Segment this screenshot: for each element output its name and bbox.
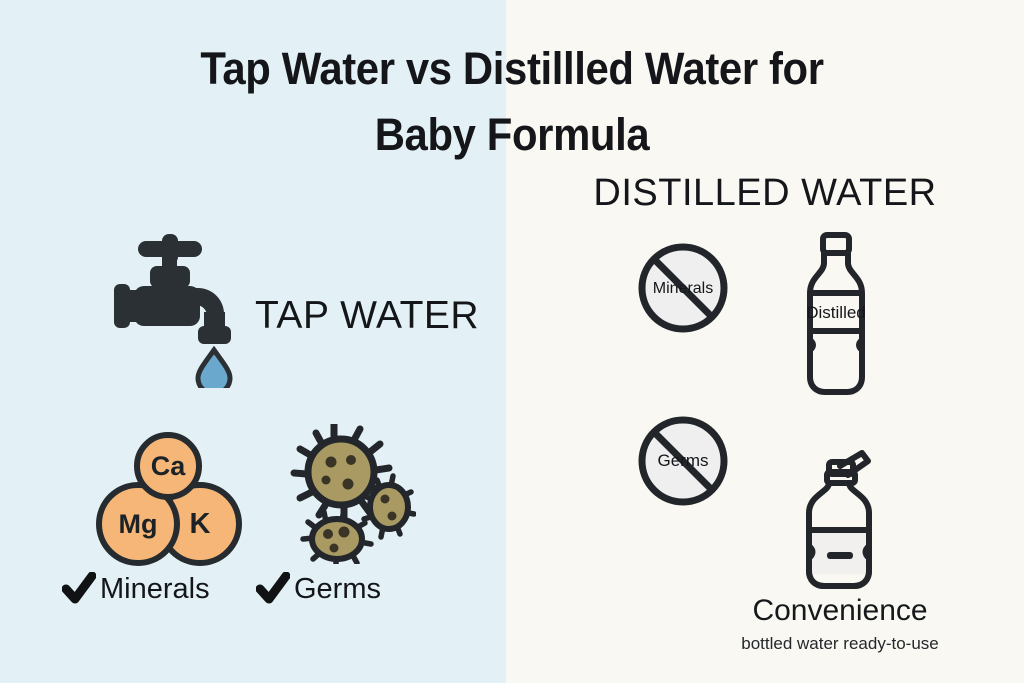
no-minerals-icon: Minerals <box>635 240 731 336</box>
right-panel-background <box>506 0 1024 683</box>
mineral-circle-calcium: Ca <box>134 432 202 500</box>
distilled-water-heading: DISTILLED WATER <box>506 172 1024 215</box>
faucet-icon <box>112 228 248 388</box>
tap-water-heading: TAP WATER <box>255 294 479 338</box>
check-row-minerals: Minerals <box>62 572 210 606</box>
convenience-subtitle: bottled water ready-to-use <box>660 634 1020 654</box>
minerals-cluster-icon: Mg K Ca <box>96 432 238 566</box>
check-row-germs: Germs <box>256 572 381 606</box>
checkmark-icon <box>256 572 290 606</box>
check-label-germs: Germs <box>294 573 381 606</box>
no-minerals-label: Minerals <box>653 280 713 297</box>
germs-cluster-icon <box>286 424 416 564</box>
water-droplet-icon <box>198 350 230 388</box>
bottle-dash-mark <box>827 552 853 559</box>
checkmark-icon <box>62 572 96 606</box>
convenience-title: Convenience <box>660 594 1020 628</box>
check-label-minerals: Minerals <box>100 573 210 606</box>
water-bottle-icon: Distilled <box>794 232 878 402</box>
bottle-label: Distilled <box>806 303 866 322</box>
infographic-poster: Tap Water vs Distillled Water for Baby F… <box>0 0 1024 683</box>
sport-cap-bottle-icon <box>796 442 882 594</box>
no-germs-label: Germs <box>658 451 709 470</box>
no-germs-icon: Germs <box>635 413 731 509</box>
